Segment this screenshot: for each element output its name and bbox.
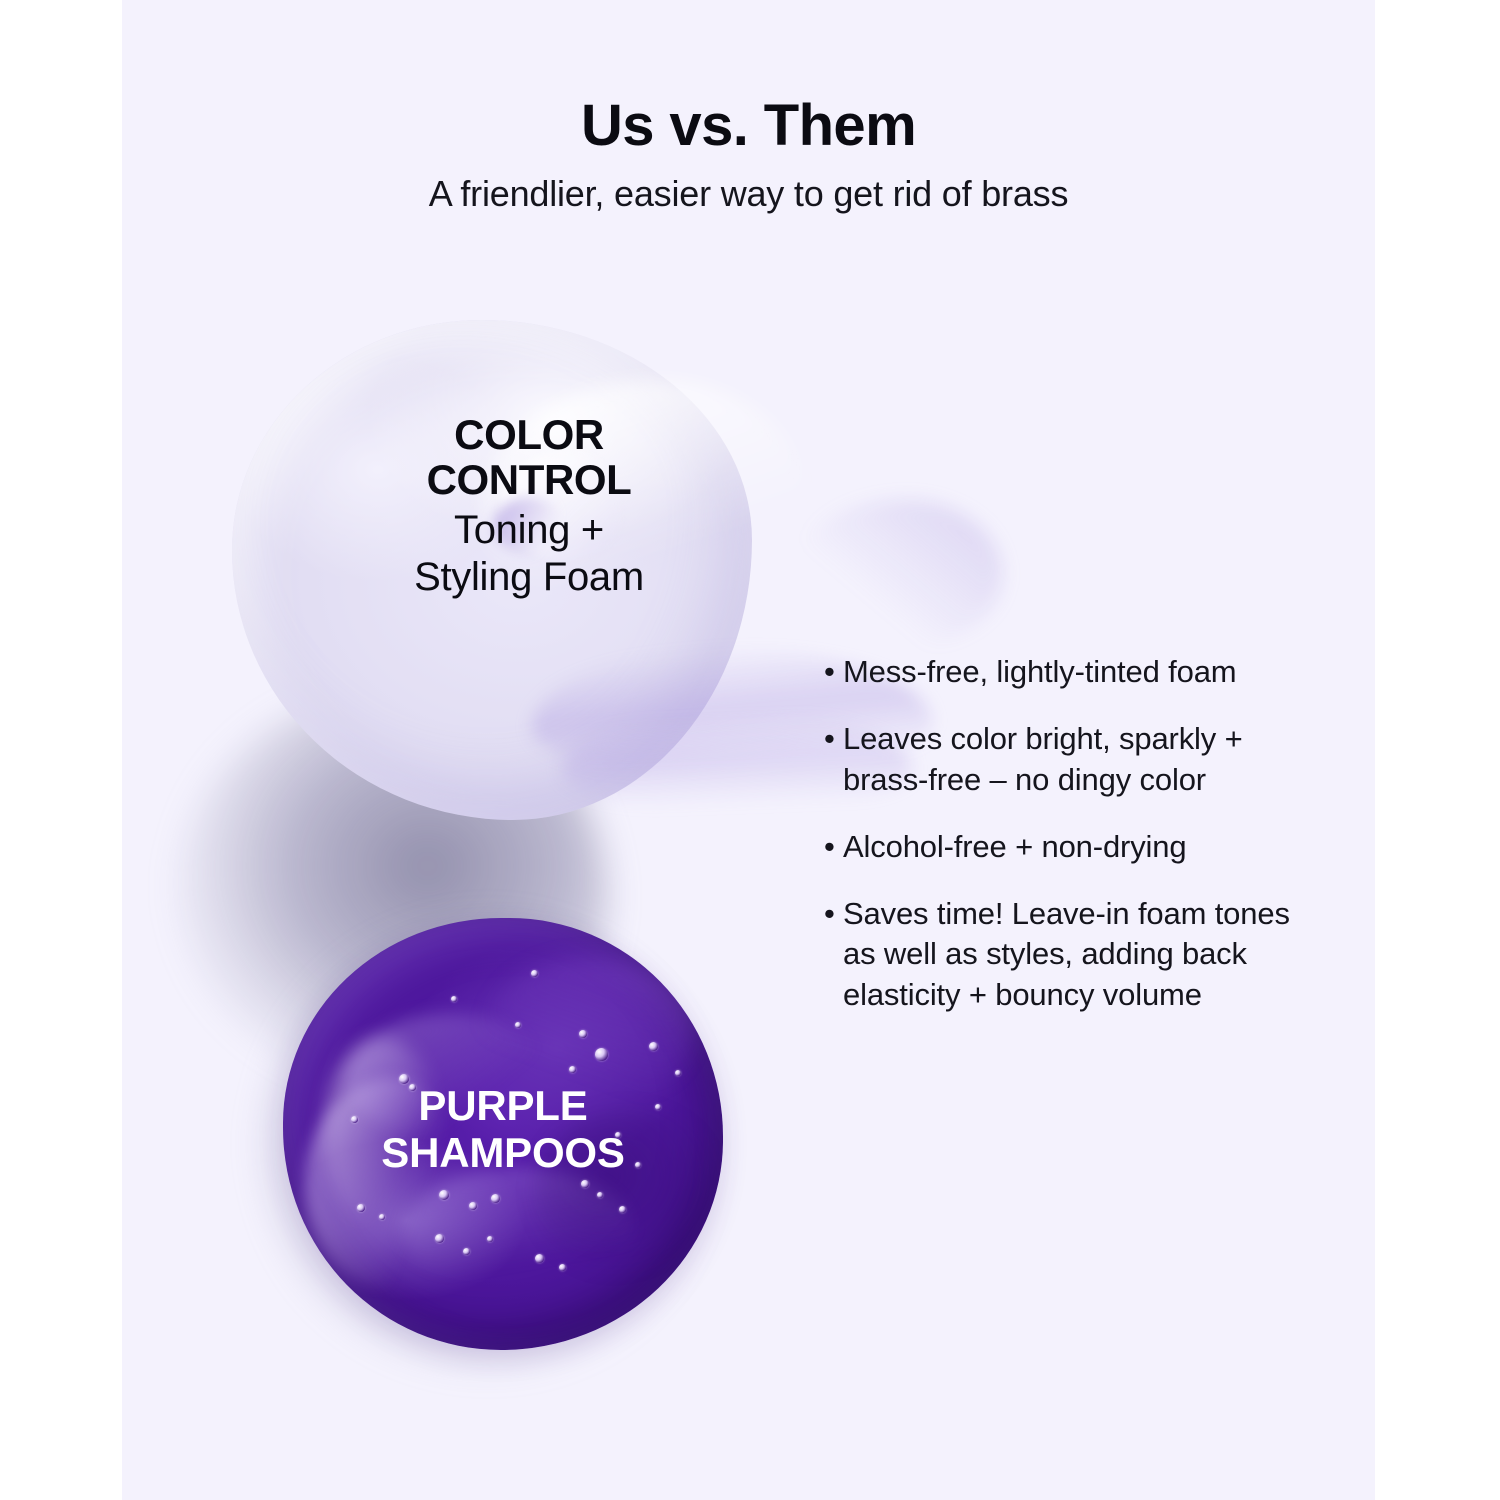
header: Us vs. Them A friendlier, easier way to … [122,96,1375,216]
gel-bubble-icon [439,1190,449,1200]
gel-bubble-icon [515,1022,521,1028]
gel-bubble-icon [451,996,457,1002]
gel-bubble-icon [491,1194,500,1203]
gel-bubble-icon [531,970,538,977]
list-item: • Mess-free, lightly-tinted foam [824,652,1324,692]
gel-bubble-icon [559,1264,566,1271]
list-item-text: Mess-free, lightly-tinted foam [843,652,1324,692]
gel-product-name-line-1: PURPLE [318,1082,688,1129]
gel-bubble-icon [379,1214,385,1220]
bullet-dot-icon: • [824,652,843,692]
gel-bubble-icon [487,1236,493,1242]
page-title: Us vs. Them [122,96,1375,156]
foam-shade-icon [792,500,1002,650]
gel-bubble-icon [569,1066,576,1073]
gel-bubble-icon [675,1070,681,1076]
gel-bubble-icon [597,1192,603,1198]
foam-descriptor-line-1: Toning + [362,507,696,554]
list-item: • Leaves color bright, sparkly + brass-f… [824,719,1324,800]
list-item: • Alcohol-free + non-drying [824,827,1324,867]
page-subtitle: A friendlier, easier way to get rid of b… [122,172,1375,215]
gel-bubble-icon [469,1202,477,1210]
gel-gloss-lower-icon [403,1168,633,1288]
gel-bubble-icon [649,1042,658,1051]
gel-bubble-icon [579,1030,587,1038]
list-item-text: Alcohol-free + non-drying [843,827,1324,867]
comparison-infographic: Us vs. Them A friendlier, easier way to … [0,0,1500,1500]
gel-bubble-icon [595,1048,608,1061]
gel-bubble-icon [619,1206,626,1213]
gel-bubble-icon [581,1180,589,1188]
list-item-text: Leaves color bright, sparkly + brass-fre… [843,719,1324,800]
foam-descriptor-line-2: Styling Foam [362,554,696,601]
gel-bubble-icon [357,1204,365,1212]
gel-product-name-line-2: SHAMPOOS [318,1129,688,1176]
bullet-dot-icon: • [824,827,843,867]
gel-bubble-icon [463,1248,470,1255]
gel-bubble-icon [435,1234,444,1243]
foam-product-name: COLOR CONTROL [362,412,696,503]
comparison-row-them: PURPLE SHAMPOOS • Messy, inky dyes stain… [0,900,1500,1420]
foam-product-label: COLOR CONTROL Toning + Styling Foam [362,412,696,601]
bullet-dot-icon: • [824,719,843,759]
foam-product-descriptor: Toning + Styling Foam [362,507,696,601]
comparison-row-us: COLOR CONTROL Toning + Styling Foam • Me… [0,300,1500,860]
gel-bubble-icon [535,1254,544,1263]
gel-product-label: PURPLE SHAMPOOS [318,1082,688,1176]
